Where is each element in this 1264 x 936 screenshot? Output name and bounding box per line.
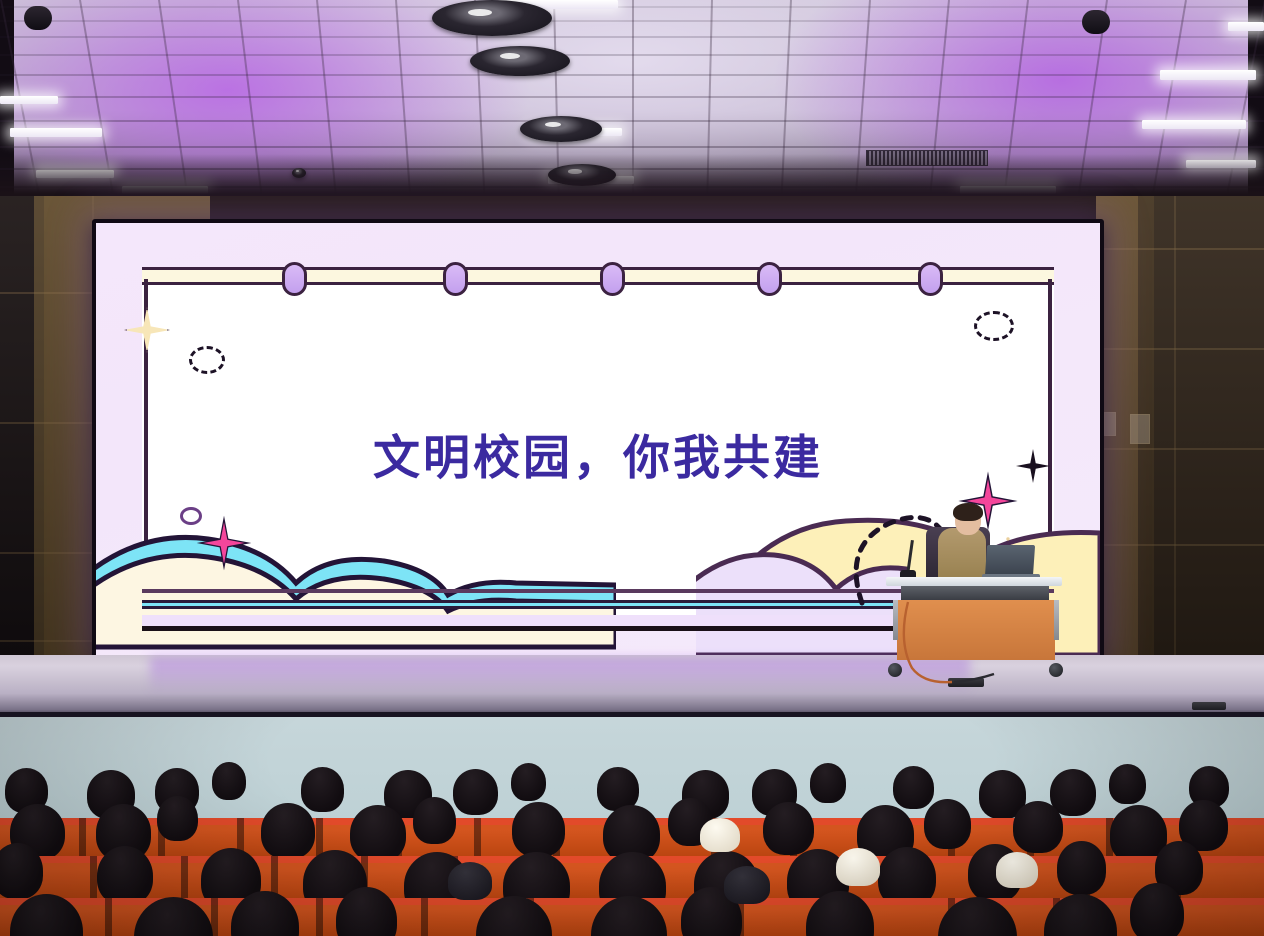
audience-cap-white (996, 852, 1038, 888)
audience-head (1057, 841, 1106, 895)
seat-divider (181, 856, 188, 900)
stage-light-reflection (150, 658, 970, 708)
seat-divider (421, 898, 428, 936)
audience-cap-white (700, 818, 740, 852)
ceiling-tube-light (1160, 70, 1256, 80)
audience-head (97, 846, 153, 906)
seat-divider (316, 898, 323, 936)
sparkle-star-cream-icon (124, 307, 170, 353)
slide-title: 文明校园，你我共建 (96, 419, 1100, 488)
audience-head (512, 802, 565, 857)
desk-caster-right (1049, 663, 1063, 677)
ceiling-tube-light (1228, 22, 1264, 31)
ceiling-speaker (1082, 10, 1110, 34)
ceiling-downlight (520, 116, 602, 142)
slide-pill-2 (443, 262, 468, 296)
audience-head (1130, 883, 1184, 936)
audience-head (924, 799, 971, 849)
right-wall-panel (1096, 196, 1264, 692)
floor-cables (890, 598, 1010, 690)
desk-surface (886, 577, 1062, 586)
dashed-circle-upper-left-icon (189, 346, 225, 374)
seat-divider (105, 898, 112, 936)
audience-cap-white (836, 848, 880, 886)
audience-head (453, 769, 498, 815)
audience-head (511, 763, 546, 801)
audience-head (0, 843, 43, 899)
seat-divider (474, 818, 481, 858)
audience-head (1013, 801, 1063, 853)
slide-pill-4 (757, 262, 782, 296)
sparkle-star-pink-left-icon (200, 519, 248, 567)
desk-leg-right (1054, 600, 1059, 640)
audience-head (763, 802, 814, 856)
dashed-circle-upper-right-icon (974, 311, 1014, 341)
audience-head (350, 805, 407, 863)
ceiling-speaker (24, 6, 52, 30)
audience-head (157, 796, 198, 842)
auditorium-scene: 文明校园，你我共建 (0, 0, 1264, 936)
presenter-hair (953, 503, 983, 521)
audience-head (810, 763, 846, 802)
ceiling-tube-light (10, 128, 102, 137)
ring-outline-icon (180, 507, 202, 525)
audience-cap-dark (724, 866, 770, 904)
audience-head (893, 766, 934, 809)
slide-pill-3 (600, 262, 625, 296)
seat-divider (79, 818, 86, 858)
audience-head (301, 767, 344, 812)
ceiling (0, 0, 1264, 200)
seat-divider (90, 856, 97, 900)
ceiling-tube-light (0, 96, 58, 104)
ceiling-downlight (432, 0, 552, 36)
laptop-screen (985, 545, 1035, 577)
floor-power-strip (1192, 702, 1226, 710)
ceiling-shadow (0, 154, 1264, 200)
audience-head (261, 803, 315, 859)
ceiling-downlight (470, 46, 570, 76)
slide-pill-5 (918, 262, 943, 296)
presenter-torso (938, 528, 986, 582)
audience-head (1109, 764, 1146, 804)
slide-pill-1 (282, 262, 307, 296)
audience-cap-dark (448, 862, 492, 900)
audience-head (413, 797, 456, 844)
ceiling-tube-light (1142, 120, 1246, 129)
audience-head (212, 762, 246, 800)
